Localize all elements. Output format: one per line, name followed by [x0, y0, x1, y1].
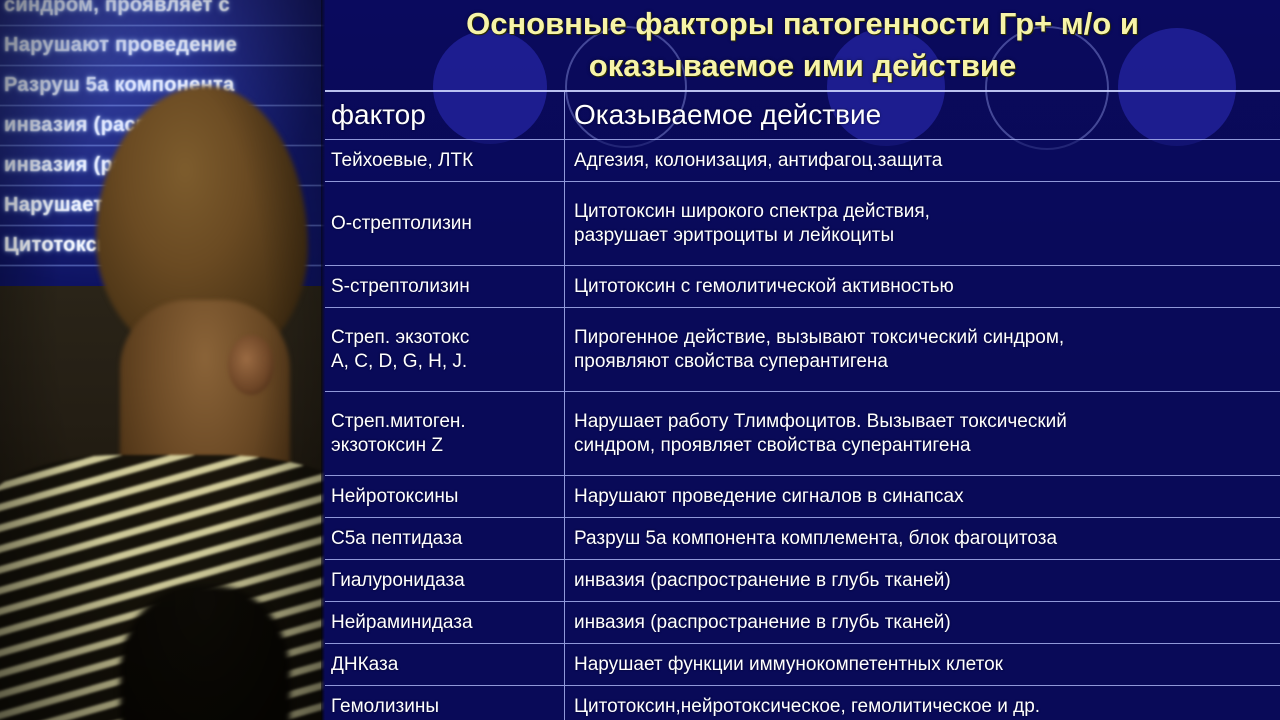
- table-row: Гиалуронидаза инвазия (распространение в…: [325, 560, 1280, 602]
- cell-factor: O-стрептолизин: [325, 182, 565, 265]
- table-row: Нейраминидаза инвазия (распространение в…: [325, 602, 1280, 644]
- slide-title-line-2: оказываемое ими действие: [589, 45, 1016, 87]
- table-row: Гемолизины Цитотоксин,нейротоксическое, …: [325, 686, 1280, 720]
- person-ear: [228, 335, 274, 395]
- cell-action: Нарушает работу Тлимфоцитов. Вызывает то…: [565, 392, 1280, 475]
- pathogenicity-factors-table: фактор Оказываемое действие Тейхоевые, Л…: [325, 90, 1280, 720]
- projected-line: синдром, проявляет с: [0, 0, 325, 26]
- table-header-row: фактор Оказываемое действие: [325, 90, 1280, 140]
- cell-factor: Тейхоевые, ЛТК: [325, 140, 565, 181]
- table-row: Стреп.митоген. экзотоксин Z Нарушает раб…: [325, 392, 1280, 476]
- cell-factor: Гемолизины: [325, 686, 565, 720]
- cell-action: Цитотоксин,нейротоксическое, гемолитичес…: [565, 686, 1280, 720]
- projected-line: Нарушают проведение: [0, 26, 325, 66]
- cell-factor: S-стрептолизин: [325, 266, 565, 307]
- table-row: Стреп. экзотокс A, C, D, G, H, J. Пироге…: [325, 308, 1280, 392]
- cell-factor: Стреп.митоген. экзотоксин Z: [325, 392, 565, 475]
- cell-factor: Стреп. экзотокс A, C, D, G, H, J.: [325, 308, 565, 391]
- cell-factor: Гиалуронидаза: [325, 560, 565, 601]
- cell-action: инвазия (распространение в глубь тканей): [565, 602, 1280, 643]
- camera-video-panel[interactable]: синдром, проявляет с Нарушают проведение…: [0, 0, 325, 720]
- table-row: С5а пептидаза Разруш 5а компонента компл…: [325, 518, 1280, 560]
- cell-action: Разруш 5а компонента комплемента, блок ф…: [565, 518, 1280, 559]
- cell-action: Адгезия, колонизация, антифагоц.защита: [565, 140, 1280, 181]
- table-row: ДНКаза Нарушает функции иммунокомпетентн…: [325, 644, 1280, 686]
- cell-action: Нарушает функции иммунокомпетентных клет…: [565, 644, 1280, 685]
- table-row: Тейхоевые, ЛТК Адгезия, колонизация, ант…: [325, 140, 1280, 182]
- cell-factor: Нейротоксины: [325, 476, 565, 517]
- table-row: Нейротоксины Нарушают проведение сигнало…: [325, 476, 1280, 518]
- cell-action: инвазия (распространение в глубь тканей): [565, 560, 1280, 601]
- column-header-action: Оказываемое действие: [565, 92, 1280, 139]
- slide-panel: Основные факторы патогенности Гр+ м/о и …: [325, 0, 1280, 720]
- slide-title-line-1: Основные факторы патогенности Гр+ м/о и: [466, 3, 1139, 45]
- column-header-factor: фактор: [325, 92, 565, 139]
- cell-factor: Нейраминидаза: [325, 602, 565, 643]
- table-row: S-стрептолизин Цитотоксин с гемолитическ…: [325, 266, 1280, 308]
- cell-action: Нарушают проведение сигналов в синапсах: [565, 476, 1280, 517]
- table-row: O-стрептолизин Цитотоксин широкого спект…: [325, 182, 1280, 266]
- cell-factor: ДНКаза: [325, 644, 565, 685]
- presentation-screen: синдром, проявляет с Нарушают проведение…: [0, 0, 1280, 720]
- cell-action: Цитотоксин с гемолитической активностью: [565, 266, 1280, 307]
- cell-action: Пирогенное действие, вызывают токсически…: [565, 308, 1280, 391]
- cell-factor: С5а пептидаза: [325, 518, 565, 559]
- cell-action: Цитотоксин широкого спектра действия, ра…: [565, 182, 1280, 265]
- slide-title: Основные факторы патогенности Гр+ м/о и …: [325, 0, 1280, 90]
